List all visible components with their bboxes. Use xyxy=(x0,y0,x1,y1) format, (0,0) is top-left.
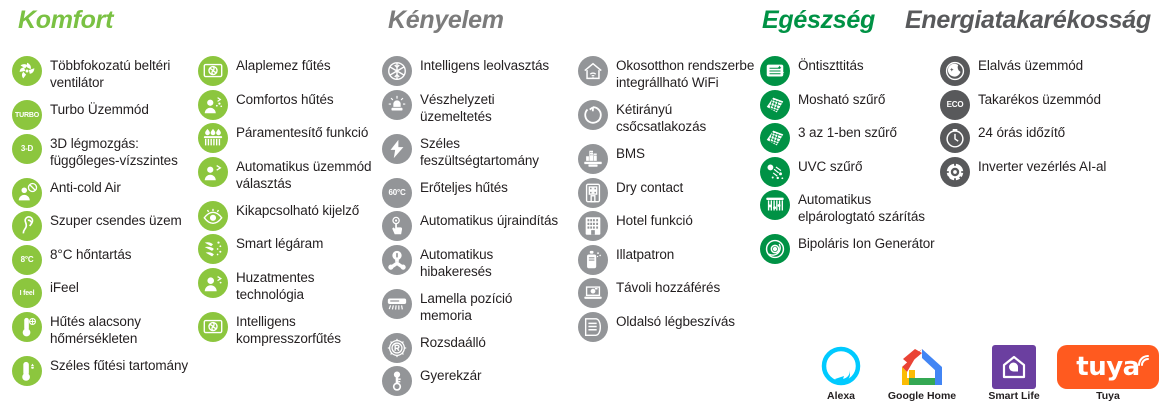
person-no-cold-icon xyxy=(12,178,42,208)
feature-label: Rozsdaálló xyxy=(420,333,570,351)
self-clean-icon xyxy=(760,56,790,86)
feature-item: Automatikus hibakeresés xyxy=(382,245,572,280)
feature-label: Automatikus hibakeresés xyxy=(420,245,570,280)
thermometer-low-icon xyxy=(12,312,42,342)
sleep-moon-icon xyxy=(940,56,970,86)
feature-label: Kétirányú csőcsatlakozás xyxy=(616,100,766,135)
uvc-filter-icon xyxy=(760,157,790,187)
feature-label: Hotel funkció xyxy=(616,211,766,229)
feature-label: Kikapcsolható kijelző xyxy=(236,201,386,219)
logo-tuya: tuya Tuya xyxy=(1056,345,1160,403)
feature-label: Mosható szűrő xyxy=(798,90,958,108)
feature-label: BMS xyxy=(616,144,766,162)
logo-smart-life: Smart Life xyxy=(972,345,1056,403)
feature-label: Lamella pozíció memoria xyxy=(420,289,570,324)
feature-label: 8°C hőntartás xyxy=(50,245,200,263)
feature-label: Páramentesítő funkció xyxy=(236,123,386,141)
feature-label: Öntiszttitás xyxy=(798,56,958,74)
feature-label: Turbo Üzemmód xyxy=(50,100,200,118)
feature-label: Takarékos üzemmód xyxy=(978,90,1158,108)
feature-label: Intelligens kompresszorfűtés xyxy=(236,312,386,347)
smart-airflow-icon xyxy=(198,234,228,264)
badge-text: TURBO xyxy=(15,112,39,119)
feature-label: Oldalsó légbeszívás xyxy=(616,312,766,330)
feature-item: Mosható szűrő xyxy=(760,90,960,120)
logo-caption: Smart Life xyxy=(972,391,1056,403)
feature-item: 60°CErőteljes hűtés xyxy=(382,178,572,208)
feature-item: 24 órás időzítő xyxy=(940,123,1160,153)
logo-caption: Google Home xyxy=(872,391,972,403)
feature-item: Hűtés alacsony hőmérsékleten xyxy=(12,312,202,347)
feature-label: Elalvás üzemmód xyxy=(978,56,1158,74)
feature-label: iFeel xyxy=(50,278,200,296)
side-air-intake-icon xyxy=(578,312,608,342)
fragrance-cartridge-icon xyxy=(578,245,608,275)
feature-label: Smart légáram xyxy=(236,234,386,252)
feature-item: Páramentesítő funkció xyxy=(198,123,388,153)
thermometer-range-icon xyxy=(12,356,42,386)
feature-label: Huzatmentes technológia xyxy=(236,268,386,303)
anti-rust-icon xyxy=(382,333,412,363)
ear-quiet-icon xyxy=(12,211,42,241)
feature-label: Hűtés alacsony hőmérsékleten xyxy=(50,312,200,347)
alexa-icon xyxy=(810,345,872,389)
tuya-icon: tuya xyxy=(1056,345,1160,389)
base-pan-heater-icon xyxy=(198,56,228,86)
google-home-icon xyxy=(872,345,972,389)
badge-text: 3-D xyxy=(21,145,33,153)
feature-item: Elalvás üzemmód xyxy=(940,56,1160,86)
feature-item: BMS xyxy=(578,144,768,174)
louver-memory-icon xyxy=(382,289,412,319)
feature-label: Intelligens leolvasztás xyxy=(420,56,570,74)
sun-60c-icon: 60°C xyxy=(382,178,412,208)
hotel-function-icon xyxy=(578,211,608,241)
feature-item: Okosotthon rendszerbe integrállható WiFi xyxy=(578,56,768,91)
feature-label: Illatpatron xyxy=(616,245,766,263)
feature-item: Inverter vezérlés AI-al xyxy=(940,157,1160,187)
feature-item: Automatikus újraindítás xyxy=(382,211,572,241)
bipolar-ion-icon xyxy=(760,234,790,264)
feature-label: 24 órás időzítő xyxy=(978,123,1158,141)
three-in-one-filter-icon xyxy=(760,123,790,153)
section-heading-energiatakarekossag: Energiatakarékosság xyxy=(905,8,1151,33)
feature-item: Rozsdaálló xyxy=(382,333,572,363)
feature-label: Anti-cold Air xyxy=(50,178,200,196)
voltage-bolt-icon xyxy=(382,134,412,164)
badge-text: I feel xyxy=(20,290,35,297)
turbo-text-icon: TURBO xyxy=(12,100,42,130)
feature-label: Szuper csendes üzem xyxy=(50,211,200,229)
feature-item: Bipoláris Ion Generátor xyxy=(760,234,960,264)
feature-item: Kikapcsolható kijelző xyxy=(198,201,388,231)
feature-item: Széles fűtési tartomány xyxy=(12,356,202,386)
feature-item: Gyerekzár xyxy=(382,366,572,396)
feature-item: Többfokozatú beltéri ventilátor xyxy=(12,56,202,91)
feature-label: Többfokozatú beltéri ventilátor xyxy=(50,56,200,91)
dry-contact-icon xyxy=(578,178,608,208)
person-auto-mode-icon xyxy=(198,157,228,187)
logo-caption: Tuya xyxy=(1056,391,1160,403)
feature-item: Intelligens leolvasztás xyxy=(382,56,572,86)
smart-home-wifi-icon xyxy=(578,56,608,86)
feature-item: Automatikus elpárologtató szárítás xyxy=(760,190,960,225)
section-heading-kenyelem: Kényelem xyxy=(388,8,504,33)
compressor-heating-icon xyxy=(198,312,228,342)
person-draft-free-icon xyxy=(198,268,228,298)
inverter-ai-icon xyxy=(940,157,970,187)
badge-text: ECO xyxy=(947,101,964,109)
logo-caption: Alexa xyxy=(810,391,872,403)
feature-item: ECOTakarékos üzemmód xyxy=(940,90,1160,120)
feature-item: Alaplemez fűtés xyxy=(198,56,388,86)
feature-label: Erőteljes hűtés xyxy=(420,178,570,196)
feature-item: 3 az 1-ben szűrő xyxy=(760,123,960,153)
two-way-pipe-icon xyxy=(578,100,608,130)
logo-google-home: Google Home xyxy=(872,345,972,403)
3d-text-icon: 3-D xyxy=(12,134,42,164)
feature-label: Széles fűtési tartomány xyxy=(50,356,200,374)
badge-text: 60°C xyxy=(388,189,405,197)
section-heading-egeszseg: Egészség xyxy=(762,8,875,33)
feature-label: Alaplemez fűtés xyxy=(236,56,386,74)
feature-label: Okosotthon rendszerbe integrállható WiFi xyxy=(616,56,766,91)
feature-item: Távoli hozzáférés xyxy=(578,278,768,308)
feature-item: Anti-cold Air xyxy=(12,178,202,208)
snowflake-defrost-icon xyxy=(382,56,412,86)
feature-label: Comfortos hűtés xyxy=(236,90,386,108)
feature-item: Illatpatron xyxy=(578,245,768,275)
feature-item: 3-D3D légmozgás: függőleges-vízszintes xyxy=(12,134,202,169)
feature-item: Kétirányú csőcsatlakozás xyxy=(578,100,768,135)
feature-item: Dry contact xyxy=(578,178,768,208)
feature-label: Távoli hozzáférés xyxy=(616,278,766,296)
logo-alexa: Alexa xyxy=(810,345,872,403)
feature-label: Dry contact xyxy=(616,178,766,196)
eco-text-icon: ECO xyxy=(940,90,970,120)
feature-item: Automatikus üzemmód választás xyxy=(198,157,388,192)
feature-label: Automatikus üzemmód választás xyxy=(236,157,386,192)
feature-item: Oldalsó légbeszívás xyxy=(578,312,768,342)
section-heading-komfort: Komfort xyxy=(18,8,113,33)
feature-item: I feeliFeel xyxy=(12,278,202,308)
person-comfort-cool-icon xyxy=(198,90,228,120)
bms-building-icon xyxy=(578,144,608,174)
badge-text: 8°C xyxy=(21,256,34,264)
feature-label: Automatikus elpárologtató szárítás xyxy=(798,190,958,225)
evaporator-dry-icon xyxy=(760,190,790,220)
tuya-wordmark: tuya xyxy=(1076,354,1139,380)
feature-label: Bipoláris Ion Generátor xyxy=(798,234,958,252)
temp-8c-text-icon: 8°C xyxy=(12,245,42,275)
emergency-lamp-icon xyxy=(382,90,412,120)
feature-label: 3 az 1-ben szűrő xyxy=(798,123,958,141)
feature-label: Inverter vezérlés AI-al xyxy=(978,157,1158,175)
dehumidify-drops-icon xyxy=(198,123,228,153)
auto-diagnostics-icon xyxy=(382,245,412,275)
feature-item: UVC szűrő xyxy=(760,157,960,187)
remote-access-icon xyxy=(578,278,608,308)
fan-blades-icon xyxy=(12,56,42,86)
ifeel-text-icon: I feel xyxy=(12,278,42,308)
feature-item: Széles feszültségtartomány xyxy=(382,134,572,169)
clock-timer-icon xyxy=(940,123,970,153)
feature-label: Vészhelyzeti üzemeltetés xyxy=(420,90,570,125)
feature-item: Comfortos hűtés xyxy=(198,90,388,120)
child-lock-key-icon xyxy=(382,366,412,396)
feature-overview-sheet: Komfort Kényelem Egészség Energiatakarék… xyxy=(0,0,1165,418)
feature-item: Hotel funkció xyxy=(578,211,768,241)
smart-life-icon xyxy=(972,345,1056,389)
feature-item: TURBOTurbo Üzemmód xyxy=(12,100,202,130)
feature-item: Öntiszttitás xyxy=(760,56,960,86)
feature-item: Vészhelyzeti üzemeltetés xyxy=(382,90,572,125)
compatible-apps-logos: Alexa Google Home xyxy=(810,345,1160,415)
feature-label: UVC szűrő xyxy=(798,157,958,175)
feature-label: 3D légmozgás: függőleges-vízszintes xyxy=(50,134,200,169)
feature-item: Huzatmentes technológia xyxy=(198,268,388,303)
feature-label: Széles feszültségtartomány xyxy=(420,134,570,169)
display-off-eye-icon xyxy=(198,201,228,231)
feature-item: 8°C8°C hőntartás xyxy=(12,245,202,275)
feature-item: Smart légáram xyxy=(198,234,388,264)
feature-label: Automatikus újraindítás xyxy=(420,211,570,229)
feature-item: Szuper csendes üzem xyxy=(12,211,202,241)
feature-item: Lamella pozíció memoria xyxy=(382,289,572,324)
washable-filter-icon xyxy=(760,90,790,120)
auto-restart-hand-icon xyxy=(382,211,412,241)
feature-item: Intelligens kompresszorfűtés xyxy=(198,312,388,347)
feature-label: Gyerekzár xyxy=(420,366,570,384)
